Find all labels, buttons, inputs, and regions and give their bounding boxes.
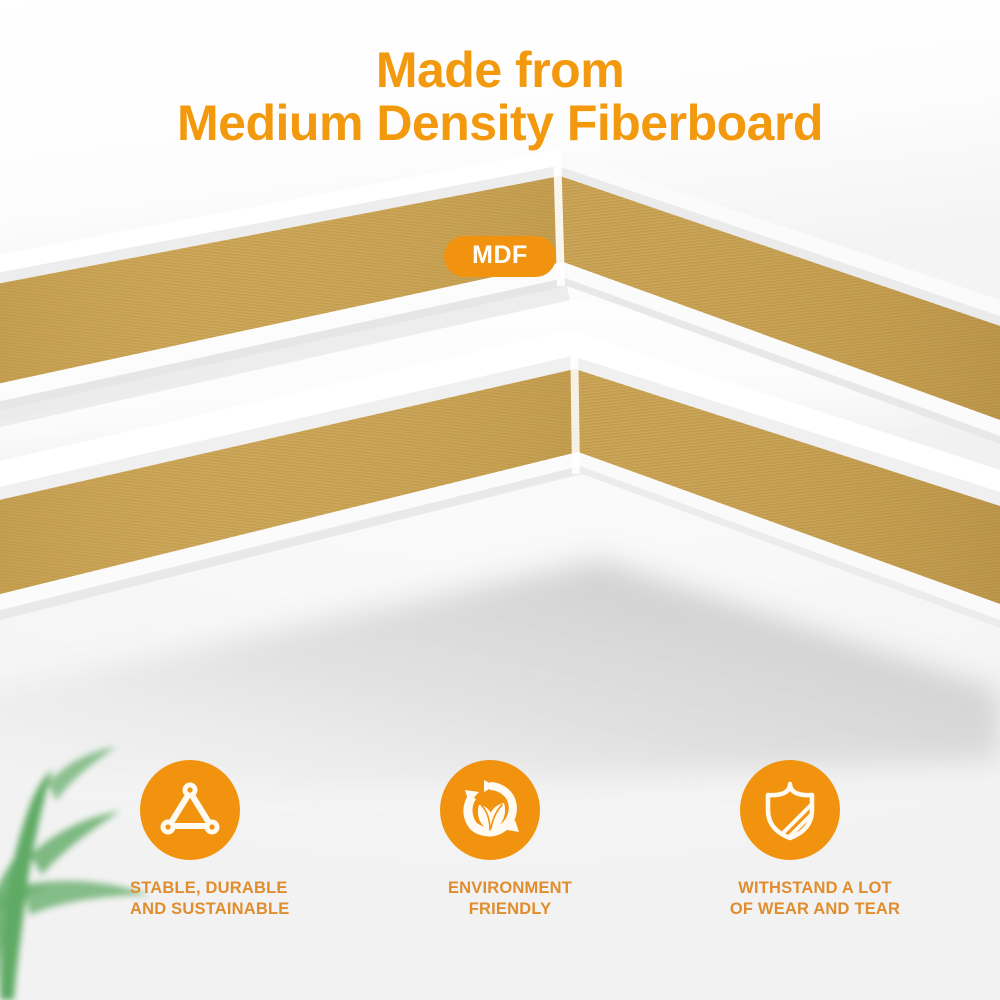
- status-badge: MDF: [444, 236, 556, 277]
- feature-caption-line-1: WITHSTAND A LOT: [690, 878, 940, 899]
- page-title: Made from Medium Density Fiberboard: [0, 44, 1000, 150]
- board-cast-shadow: [0, 560, 1000, 790]
- shield-icon: [760, 778, 820, 842]
- feature-caption-line-2: FRIENDLY: [390, 899, 630, 920]
- feature-caption: ENVIRONMENT FRIENDLY: [390, 878, 630, 920]
- feature-caption: STABLE, DURABLE AND SUSTAINABLE: [90, 878, 330, 920]
- feature-item-stable: STABLE, DURABLE AND SUSTAINABLE: [90, 760, 330, 920]
- headline-line-2: Medium Density Fiberboard: [0, 97, 1000, 150]
- product-feature-image: Made from Medium Density Fiberboard MDF: [0, 0, 1000, 1000]
- feature-item-environment: ENVIRONMENT FRIENDLY: [390, 760, 630, 920]
- feature-caption-line-2: OF WEAR AND TEAR: [690, 899, 940, 920]
- feature-caption-line-1: ENVIRONMENT: [390, 878, 630, 899]
- feature-icon-circle: [140, 760, 240, 860]
- feature-caption: WITHSTAND A LOT OF WEAR AND TEAR: [690, 878, 940, 920]
- triangle-nodes-icon: [159, 780, 221, 840]
- feature-item-durability: WITHSTAND A LOT OF WEAR AND TEAR: [690, 760, 940, 920]
- feature-icon-circle: [740, 760, 840, 860]
- mdf-badge-wrap: MDF: [0, 236, 1000, 277]
- recycle-leaf-icon: [457, 778, 523, 842]
- feature-icon-circle: [440, 760, 540, 860]
- feature-list: STABLE, DURABLE AND SUSTAINABLE: [0, 760, 1000, 1000]
- headline-line-1: Made from: [0, 44, 1000, 97]
- feature-caption-line-2: AND SUSTAINABLE: [130, 899, 330, 920]
- feature-caption-line-1: STABLE, DURABLE: [130, 878, 330, 899]
